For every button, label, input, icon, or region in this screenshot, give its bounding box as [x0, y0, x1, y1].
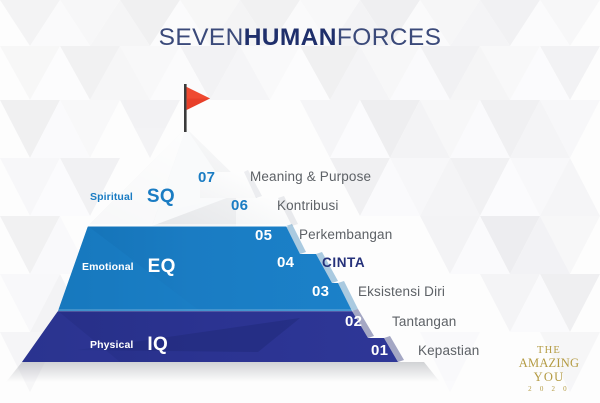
- level-number-03: 03: [312, 283, 329, 300]
- tier-abbr-sq: SQ: [147, 186, 175, 208]
- title-part-human: HUMAN: [244, 24, 337, 51]
- tier-abbr-eq: EQ: [148, 256, 176, 278]
- infographic-canvas: SEVENHUMANFORCES: [0, 0, 600, 403]
- logo-line-the: THE: [512, 346, 586, 357]
- logo-line-amazing: AMAZING: [512, 357, 586, 370]
- level-number-01: 01: [371, 342, 388, 359]
- level-label-03: Eksistensi Diri: [358, 284, 445, 299]
- level-number-02: 02: [345, 313, 362, 330]
- level-label-02: Tantangan: [392, 314, 456, 329]
- page-title: SEVENHUMANFORCES: [0, 24, 600, 52]
- level-number-07: 07: [198, 169, 215, 186]
- tier-abbr-iq: IQ: [147, 334, 168, 356]
- level-number-05: 05: [255, 227, 272, 244]
- pyramid-ground-shadow: [6, 362, 440, 382]
- level-label-04: CINTA: [322, 255, 365, 270]
- level-number-06: 06: [231, 197, 248, 214]
- level-label-07: Meaning & Purpose: [250, 169, 371, 184]
- tier-label-emotional: Emotional EQ: [82, 256, 176, 278]
- title-part-forces: FORCES: [337, 24, 442, 51]
- tier-label-spiritual: Spiritual SQ: [90, 186, 175, 208]
- the-amazing-you-logo: THE AMAZING YOU 2 0 2 0: [512, 346, 586, 394]
- level-label-01: Kepastian: [418, 343, 479, 358]
- level-label-05: Perkembangan: [299, 227, 392, 242]
- tier-name-emotional: Emotional: [82, 261, 134, 273]
- flag-pennant-icon: [176, 84, 216, 134]
- tier-name-spiritual: Spiritual: [90, 191, 133, 203]
- logo-line-year: 2 0 2 0: [512, 386, 586, 393]
- tier-name-physical: Physical: [90, 339, 133, 351]
- level-number-04: 04: [277, 254, 294, 271]
- title-part-seven: SEVEN: [159, 24, 244, 51]
- level-label-06: Kontribusi: [277, 198, 339, 213]
- logo-line-you: YOU: [512, 371, 586, 384]
- tier-label-physical: Physical IQ: [90, 334, 168, 356]
